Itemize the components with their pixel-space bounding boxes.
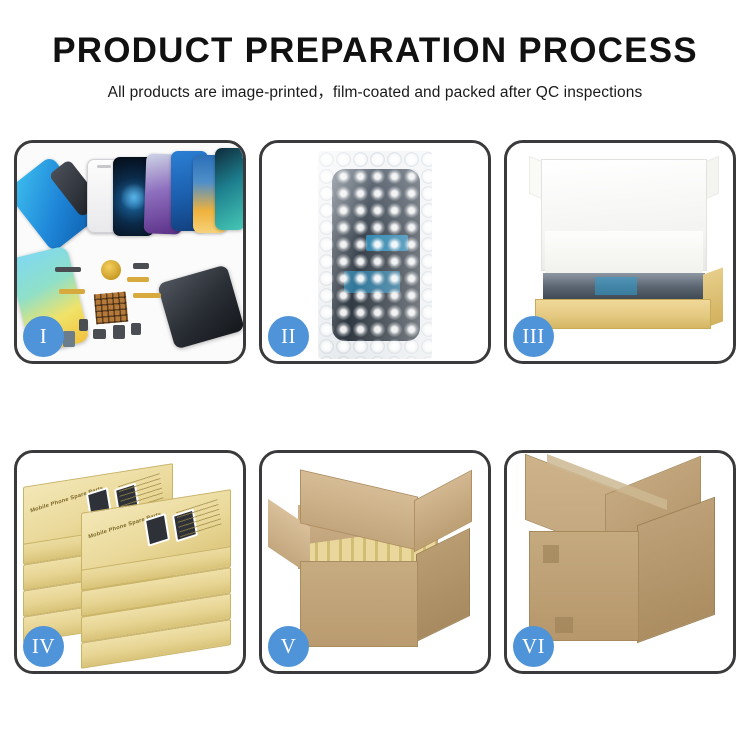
process-step-grid: I II II	[14, 140, 736, 685]
phone-back-housing	[157, 264, 243, 349]
retail-box-spec-lines-right	[176, 499, 222, 539]
retail-box-image-right-a	[144, 513, 170, 547]
step-1-illustration: I	[17, 143, 243, 361]
step-badge-2: II	[268, 316, 309, 357]
step-badge-5: V	[268, 626, 309, 667]
spare-part-module	[113, 325, 125, 339]
spare-part-connector	[133, 263, 149, 269]
step-5-illustration: V	[262, 453, 488, 671]
inner-box-foam-liner	[545, 231, 703, 277]
spare-part-battery	[63, 331, 75, 347]
product-preparation-infographic: PRODUCT PREPARATION PROCESS All products…	[0, 0, 750, 750]
page-title: PRODUCT PREPARATION PROCESS	[0, 32, 750, 71]
process-step-panel-6: VI	[504, 450, 736, 674]
spare-part-bracket	[55, 267, 81, 272]
process-step-panel-1: I	[14, 140, 246, 364]
sealed-carton-tab-upper	[543, 545, 559, 563]
flex-cable-right	[133, 293, 161, 298]
spare-part-vibrator	[131, 323, 141, 335]
process-step-panel-5: V	[259, 450, 491, 674]
flex-cable-top	[127, 277, 149, 282]
step-badge-6: VI	[513, 626, 554, 667]
header: PRODUCT PREPARATION PROCESS All products…	[0, 0, 750, 102]
flex-cable-left	[59, 289, 85, 294]
step-3-illustration: III	[507, 143, 733, 361]
step-2-illustration: II	[262, 143, 488, 361]
sealed-carton-tab-lower	[555, 617, 573, 633]
spare-part-button	[79, 319, 88, 331]
lcd-screen-teal	[215, 148, 243, 230]
process-step-panel-4: Mobile Phone Spare Parts Mobile Phone Sp…	[14, 450, 246, 674]
inner-box-front-wall	[535, 299, 711, 329]
logic-board-part	[94, 292, 128, 325]
speaker-coil-part	[101, 260, 121, 280]
carton-front-wall	[300, 561, 418, 647]
bubble-wrap-gloss	[318, 151, 432, 359]
page-subtitle: All products are image-printed，film-coat…	[0, 80, 750, 102]
process-step-panel-3: III	[504, 140, 736, 364]
step-4-illustration: Mobile Phone Spare Parts Mobile Phone Sp…	[17, 453, 243, 671]
step-badge-1: I	[23, 316, 64, 357]
spare-part-camera	[93, 329, 106, 339]
process-step-panel-2: II	[259, 140, 491, 364]
step-badge-3: III	[513, 316, 554, 357]
step-6-illustration: VI	[507, 453, 733, 671]
step-badge-4: IV	[23, 626, 64, 667]
